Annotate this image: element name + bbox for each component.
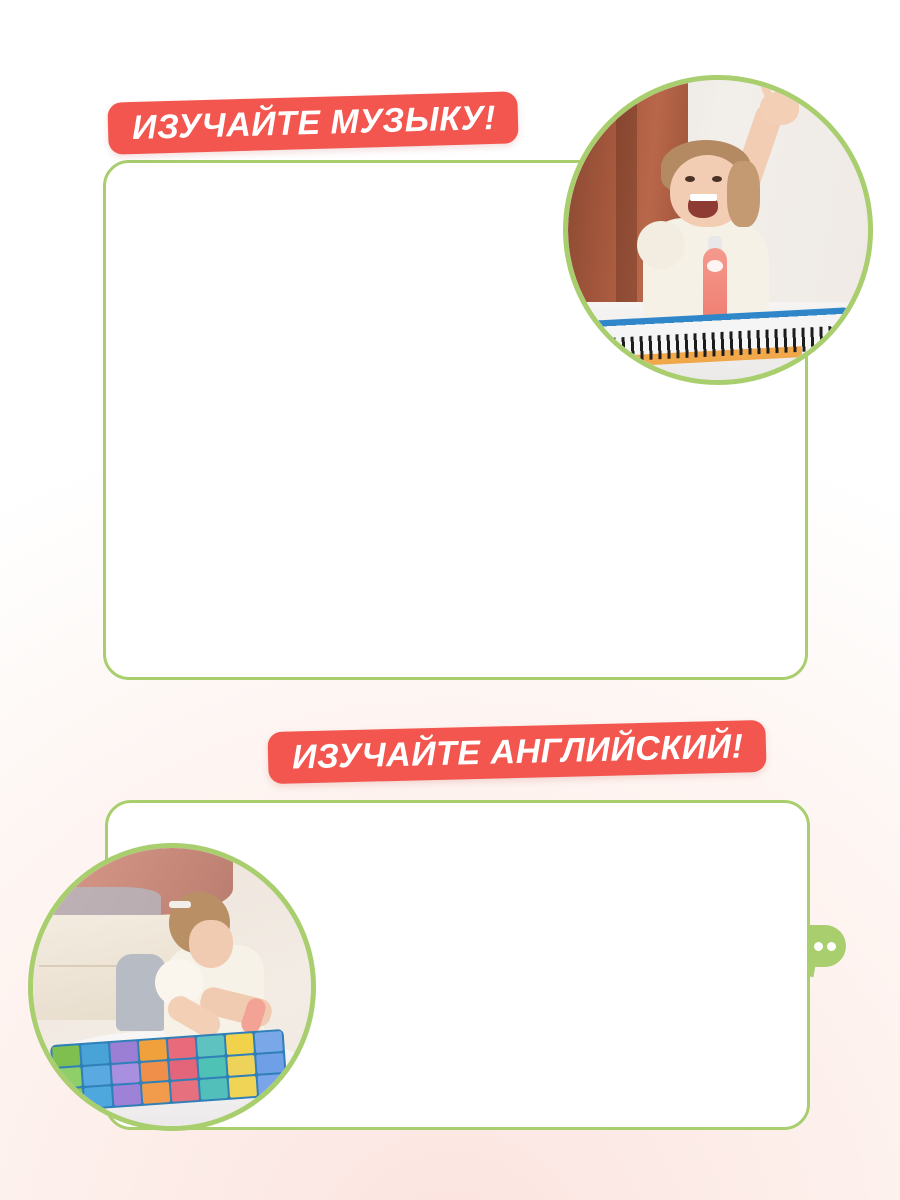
alphabet-tile: [53, 1045, 81, 1066]
promo-page: ИЗУЧАЙТЕ МУЗЫКУ! Наш музыкальный плакат …: [0, 0, 900, 1200]
music-section-banner: ИЗУЧАЙТЕ МУЗЫКУ!: [107, 91, 518, 154]
alphabet-tile: [171, 1080, 199, 1101]
alphabet-tile: [256, 1053, 284, 1074]
alphabet-tile: [198, 1057, 226, 1078]
alphabet-tile: [197, 1035, 225, 1056]
alphabet-tile: [168, 1037, 196, 1058]
alphabet-tile: [81, 1043, 109, 1064]
alphabet-tile: [258, 1074, 286, 1095]
alphabet-tile: [227, 1055, 255, 1076]
alphabet-tile: [56, 1088, 84, 1109]
alphabet-tile: [141, 1061, 169, 1082]
alphabet-tile: [110, 1041, 138, 1062]
alphabet-tile: [112, 1063, 140, 1084]
music-section-photo: [563, 75, 873, 385]
alphabet-tile: [139, 1039, 167, 1060]
alphabet-tile: [83, 1065, 111, 1086]
alphabet-tile: [84, 1086, 112, 1107]
alphabet-tile: [113, 1084, 141, 1105]
alphabet-tile: [229, 1076, 257, 1097]
alphabet-tile: [226, 1033, 254, 1054]
english-section-photo: [28, 843, 316, 1131]
alphabet-tile: [255, 1031, 283, 1052]
alphabet-tile: [170, 1059, 198, 1080]
alphabet-tile: [54, 1067, 82, 1088]
alphabet-tile: [200, 1078, 228, 1099]
alphabet-tile: [142, 1082, 170, 1103]
english-section-banner: ИЗУЧАЙТЕ АНГЛИЙСКИЙ!: [267, 720, 766, 784]
